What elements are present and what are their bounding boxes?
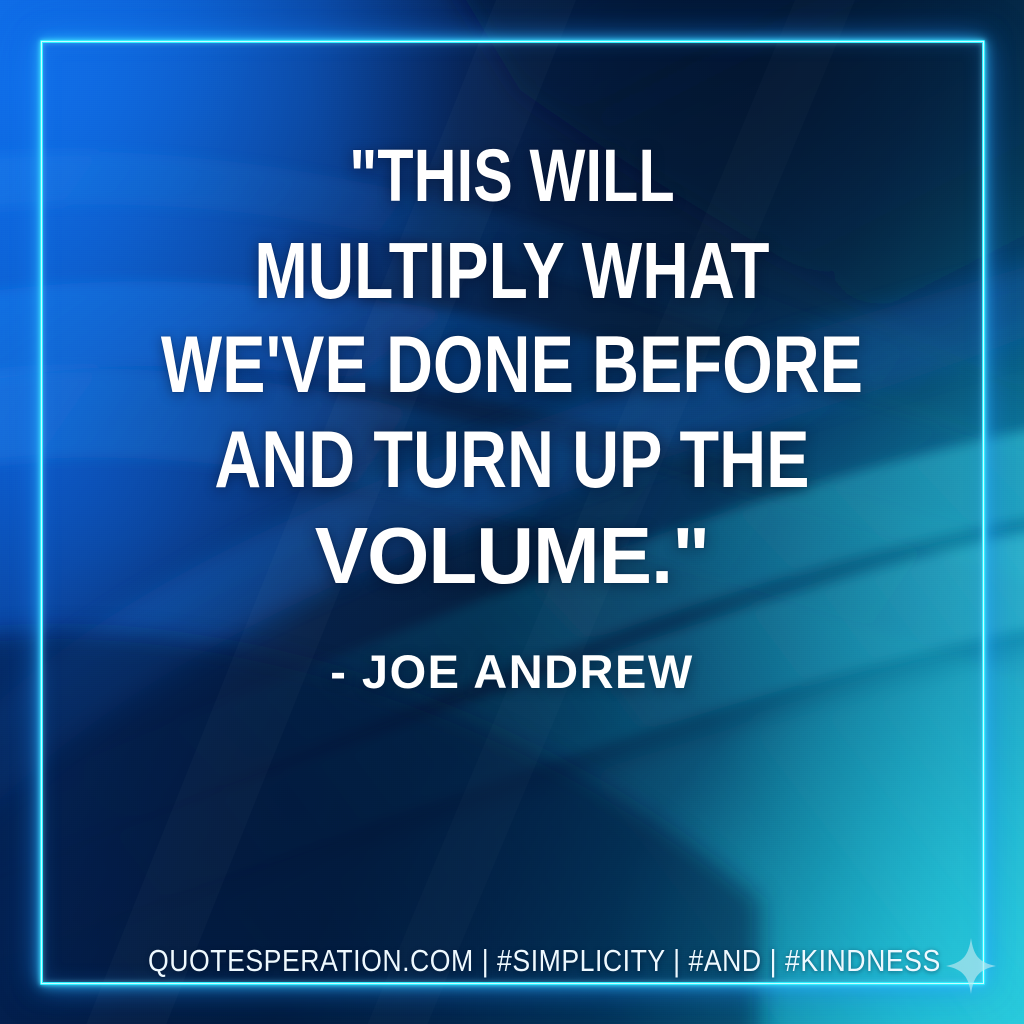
quote-card: "THIS WILL MULTIPLY WHAT WE'VE DONE BEFO… xyxy=(0,0,1024,1024)
quote-line-1: "THIS WILL xyxy=(102,128,921,223)
quote-line-5: VOLUME." xyxy=(0,508,1024,603)
sparkle-icon xyxy=(946,938,996,994)
quote-line-2: MULTIPLY WHAT xyxy=(102,223,921,318)
footer-credit-line: QUOTESPERATION.COM | #SIMPLICITY | #AND … xyxy=(148,945,941,976)
quote-line-3: WE'VE DONE BEFORE xyxy=(102,318,921,413)
quote-text-block: "THIS WILL MULTIPLY WHAT WE'VE DONE BEFO… xyxy=(0,128,1024,603)
quote-attribution: - JOE ANDREW xyxy=(0,644,1024,699)
quote-line-4: AND TURN UP THE xyxy=(102,413,921,508)
